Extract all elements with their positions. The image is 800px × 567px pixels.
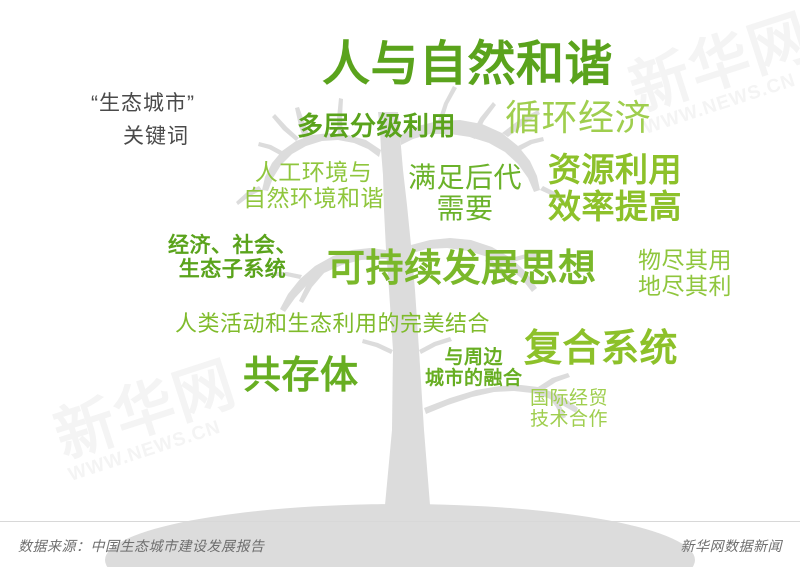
watermark-url-text: WWW.NEWS.CN <box>66 408 250 486</box>
keyword-line: 复合系统 <box>524 328 678 371</box>
keyword-label-block: “生态城市” 关键词 <box>48 88 238 153</box>
watermark-cn-text: 新华网 <box>46 348 244 471</box>
keyword-line: 生态子系统 <box>168 258 297 282</box>
keyword-man-zu-hou-dai: 满足后代需要 <box>408 162 522 225</box>
keyword-line: 人类活动和生态利用的完美结合 <box>175 312 490 337</box>
data-source-text: 数据来源：中国生态城市建设发展报告 <box>18 536 265 556</box>
tree-twig-p <box>362 339 393 354</box>
keyword-duo-ceng-fen-ji-li-yong: 多层分级利用 <box>297 112 456 141</box>
keyword-line: 国际经贸 <box>530 388 608 409</box>
keyword-line: 城市的融合 <box>425 368 523 389</box>
publisher-brand-text: 新华网数据新闻 <box>681 536 783 556</box>
keyword-line: 效率提高 <box>548 189 682 226</box>
keyword-label-line2: 关键词 <box>48 121 238 154</box>
watermark-left: 新华网 WWW.NEWS.CN <box>46 348 249 486</box>
keyword-line: 可持续发展思想 <box>327 248 597 291</box>
tree-twig-e <box>299 269 324 303</box>
keyword-gong-cun-ti: 共存体 <box>243 355 359 398</box>
keyword-wu-jin-qi-yong: 物尽其用地尽其利 <box>638 248 732 300</box>
tree-branches-group <box>236 86 578 505</box>
keyword-fu-he-xi-tong: 复合系统 <box>524 328 678 371</box>
keyword-xun-huan-jing-ji: 循环经济 <box>505 98 651 138</box>
keyword-line: 地尽其利 <box>638 274 732 300</box>
keyword-line: 经济、社会、 <box>168 234 297 258</box>
keyword-ren-lei-huo-dong: 人类活动和生态利用的完美结合 <box>175 312 490 337</box>
keyword-line: 需要 <box>408 193 522 224</box>
keyword-line: 循环经济 <box>505 98 651 138</box>
keyword-line: 自然环境和谐 <box>243 186 384 212</box>
keyword-line: 满足后代 <box>408 162 522 193</box>
tree-twig-c <box>470 102 496 139</box>
keyword-line: 人工环境与 <box>243 160 384 186</box>
keyword-ren-gong-huan-jing: 人工环境与自然环境和谐 <box>243 160 384 212</box>
keyword-line: 资源利用 <box>548 152 682 189</box>
infographic-canvas: 新华网 WWW.NEWS.CN 新华网 WWW.NEWS.CN <box>0 0 800 567</box>
keyword-ke-chi-xu-fa-zhan: 可持续发展思想 <box>327 248 597 291</box>
watermark-url-text: WWW.NEWS.CN <box>641 61 800 139</box>
tree-twig-r <box>518 137 544 150</box>
keyword-ren-yu-zi-ran-he-xie: 人与自然和谐 <box>322 38 613 92</box>
keyword-label-line1: “生态城市” <box>48 88 238 121</box>
keyword-guo-ji-jing-mao: 国际经贸技术合作 <box>530 388 608 431</box>
keyword-yu-zhou-bian: 与周边城市的融合 <box>425 347 523 390</box>
keyword-line: 物尽其用 <box>638 248 732 274</box>
tree-twig-k <box>272 114 299 141</box>
keyword-line: 与周边 <box>425 347 523 368</box>
footer-bar: 数据来源：中国生态城市建设发展报告 新华网数据新闻 <box>0 521 800 567</box>
keyword-line: 技术合作 <box>530 409 608 430</box>
keyword-line: 多层分级利用 <box>297 112 456 141</box>
tree-twig-q <box>258 142 282 155</box>
keyword-line: 人与自然和谐 <box>322 38 613 92</box>
keyword-jing-ji-she-hui: 经济、社会、生态子系统 <box>168 234 297 281</box>
keyword-line: 共存体 <box>243 355 359 398</box>
keyword-zi-yuan-li-yong: 资源利用效率提高 <box>548 152 682 226</box>
